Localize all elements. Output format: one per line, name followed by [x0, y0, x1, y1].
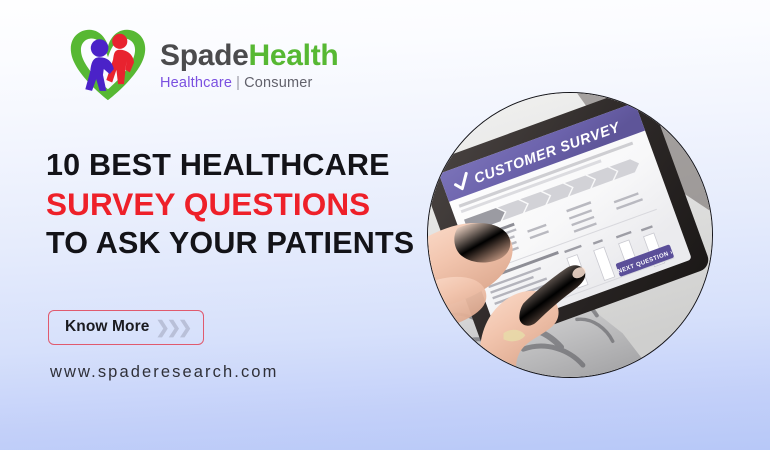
headline-block: 10 BEST HEALTHCARE SURVEY QUESTIONS TO A… [46, 146, 446, 263]
brand-name-part1: Spade [160, 39, 249, 72]
chevron-right-icon-2: ❯ [167, 319, 178, 336]
tagline-separator: | [236, 75, 240, 91]
headline-line-3: TO ASK YOUR PATIENTS [46, 224, 446, 263]
website-url[interactable]: www.spaderesearch.com [50, 363, 278, 382]
brand-logo[interactable]: SpadeHealth Healthcare|Consumer [66, 22, 338, 106]
know-more-button[interactable]: Know More ❯ ❯ ❯ [48, 310, 204, 345]
hands-holding-tablet-photo: CUSTOMER SURVEY [427, 92, 713, 378]
know-more-button-label: Know More [65, 318, 149, 336]
chevron-right-icon-3: ❯ [178, 319, 189, 336]
brand-wordmark: SpadeHealth Healthcare|Consumer [160, 36, 338, 93]
headline-line-2: SURVEY QUESTIONS [46, 185, 446, 224]
chevron-right-triple-icon: ❯ ❯ ❯ [155, 319, 189, 336]
brand-name: SpadeHealth [160, 40, 338, 72]
brand-tagline: Healthcare|Consumer [160, 75, 338, 92]
tagline-secondary: Consumer [244, 75, 313, 91]
brand-name-part2: Health [249, 39, 339, 72]
chevron-right-icon-1: ❯ [155, 319, 166, 336]
headline-line-1: 10 BEST HEALTHCARE [46, 146, 446, 185]
tagline-primary: Healthcare [160, 75, 232, 91]
heart-people-logo-icon [66, 22, 150, 106]
promo-banner: SpadeHealth Healthcare|Consumer 10 BEST … [0, 0, 770, 450]
